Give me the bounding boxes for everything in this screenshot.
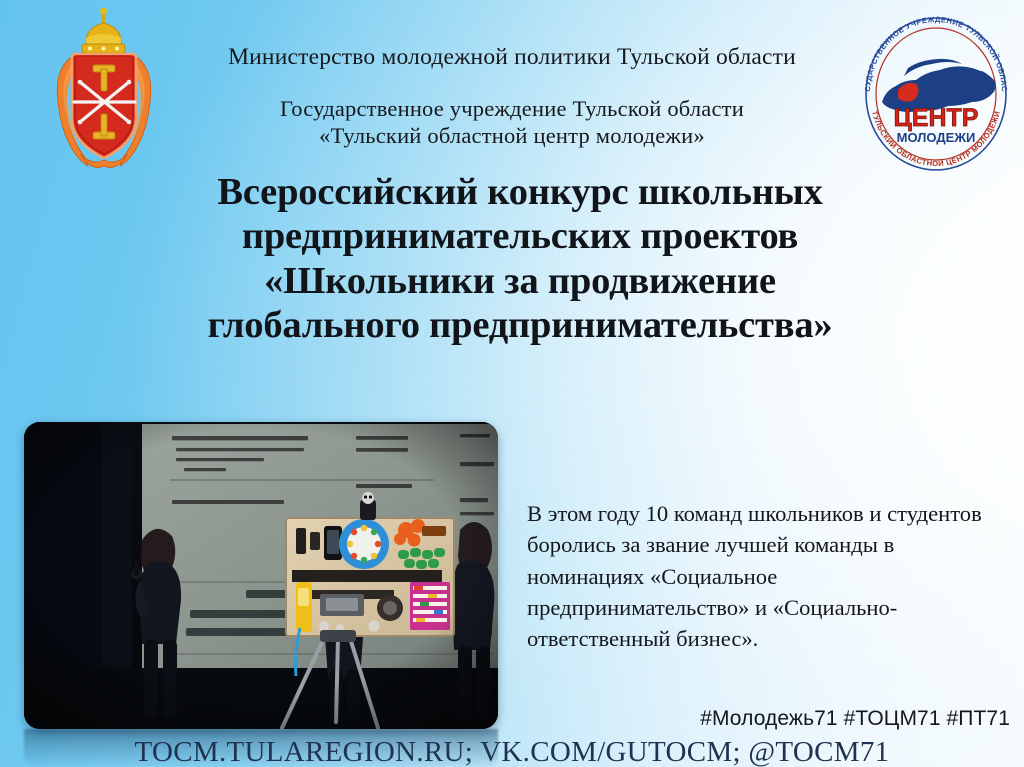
title-line-3: «Школьники за продвижение xyxy=(38,259,1002,303)
coat-of-arms-icon xyxy=(40,6,168,178)
page-title: Всероссийский конкурс школьных предприни… xyxy=(38,170,1002,348)
presentation-slide: Министерство молодежной политики Тульско… xyxy=(0,0,1024,767)
title-line-2: предпринимательских проектов xyxy=(38,214,1002,258)
stage-presentation-photo xyxy=(24,422,498,729)
body-paragraph: В этом году 10 команд школьников и студе… xyxy=(527,498,1005,654)
youth-center-logo-icon: ЦЕНТР МОЛОДЕЖИ ГОСУДАРСТВЕННОЕ УЧРЕЖДЕНИ… xyxy=(856,14,1016,178)
title-line-4: глобального предпринимательства» xyxy=(38,303,1002,347)
title-line-1: Всероссийский конкурс школьных xyxy=(38,170,1002,214)
contact-urls-line: TOCM.TULAREGION.RU; VK.COM/GUTOCM; @TOCM… xyxy=(0,736,1024,767)
logo-center-text-2: МОЛОДЕЖИ xyxy=(897,130,976,145)
hashtags-line: #Молодежь71 #ТОЦМ71 #ПТ71 xyxy=(700,707,1010,731)
logo-center-text-1: ЦЕНТР xyxy=(894,104,979,132)
organization-line-1: Государственное учреждение Тульской обла… xyxy=(280,96,744,121)
